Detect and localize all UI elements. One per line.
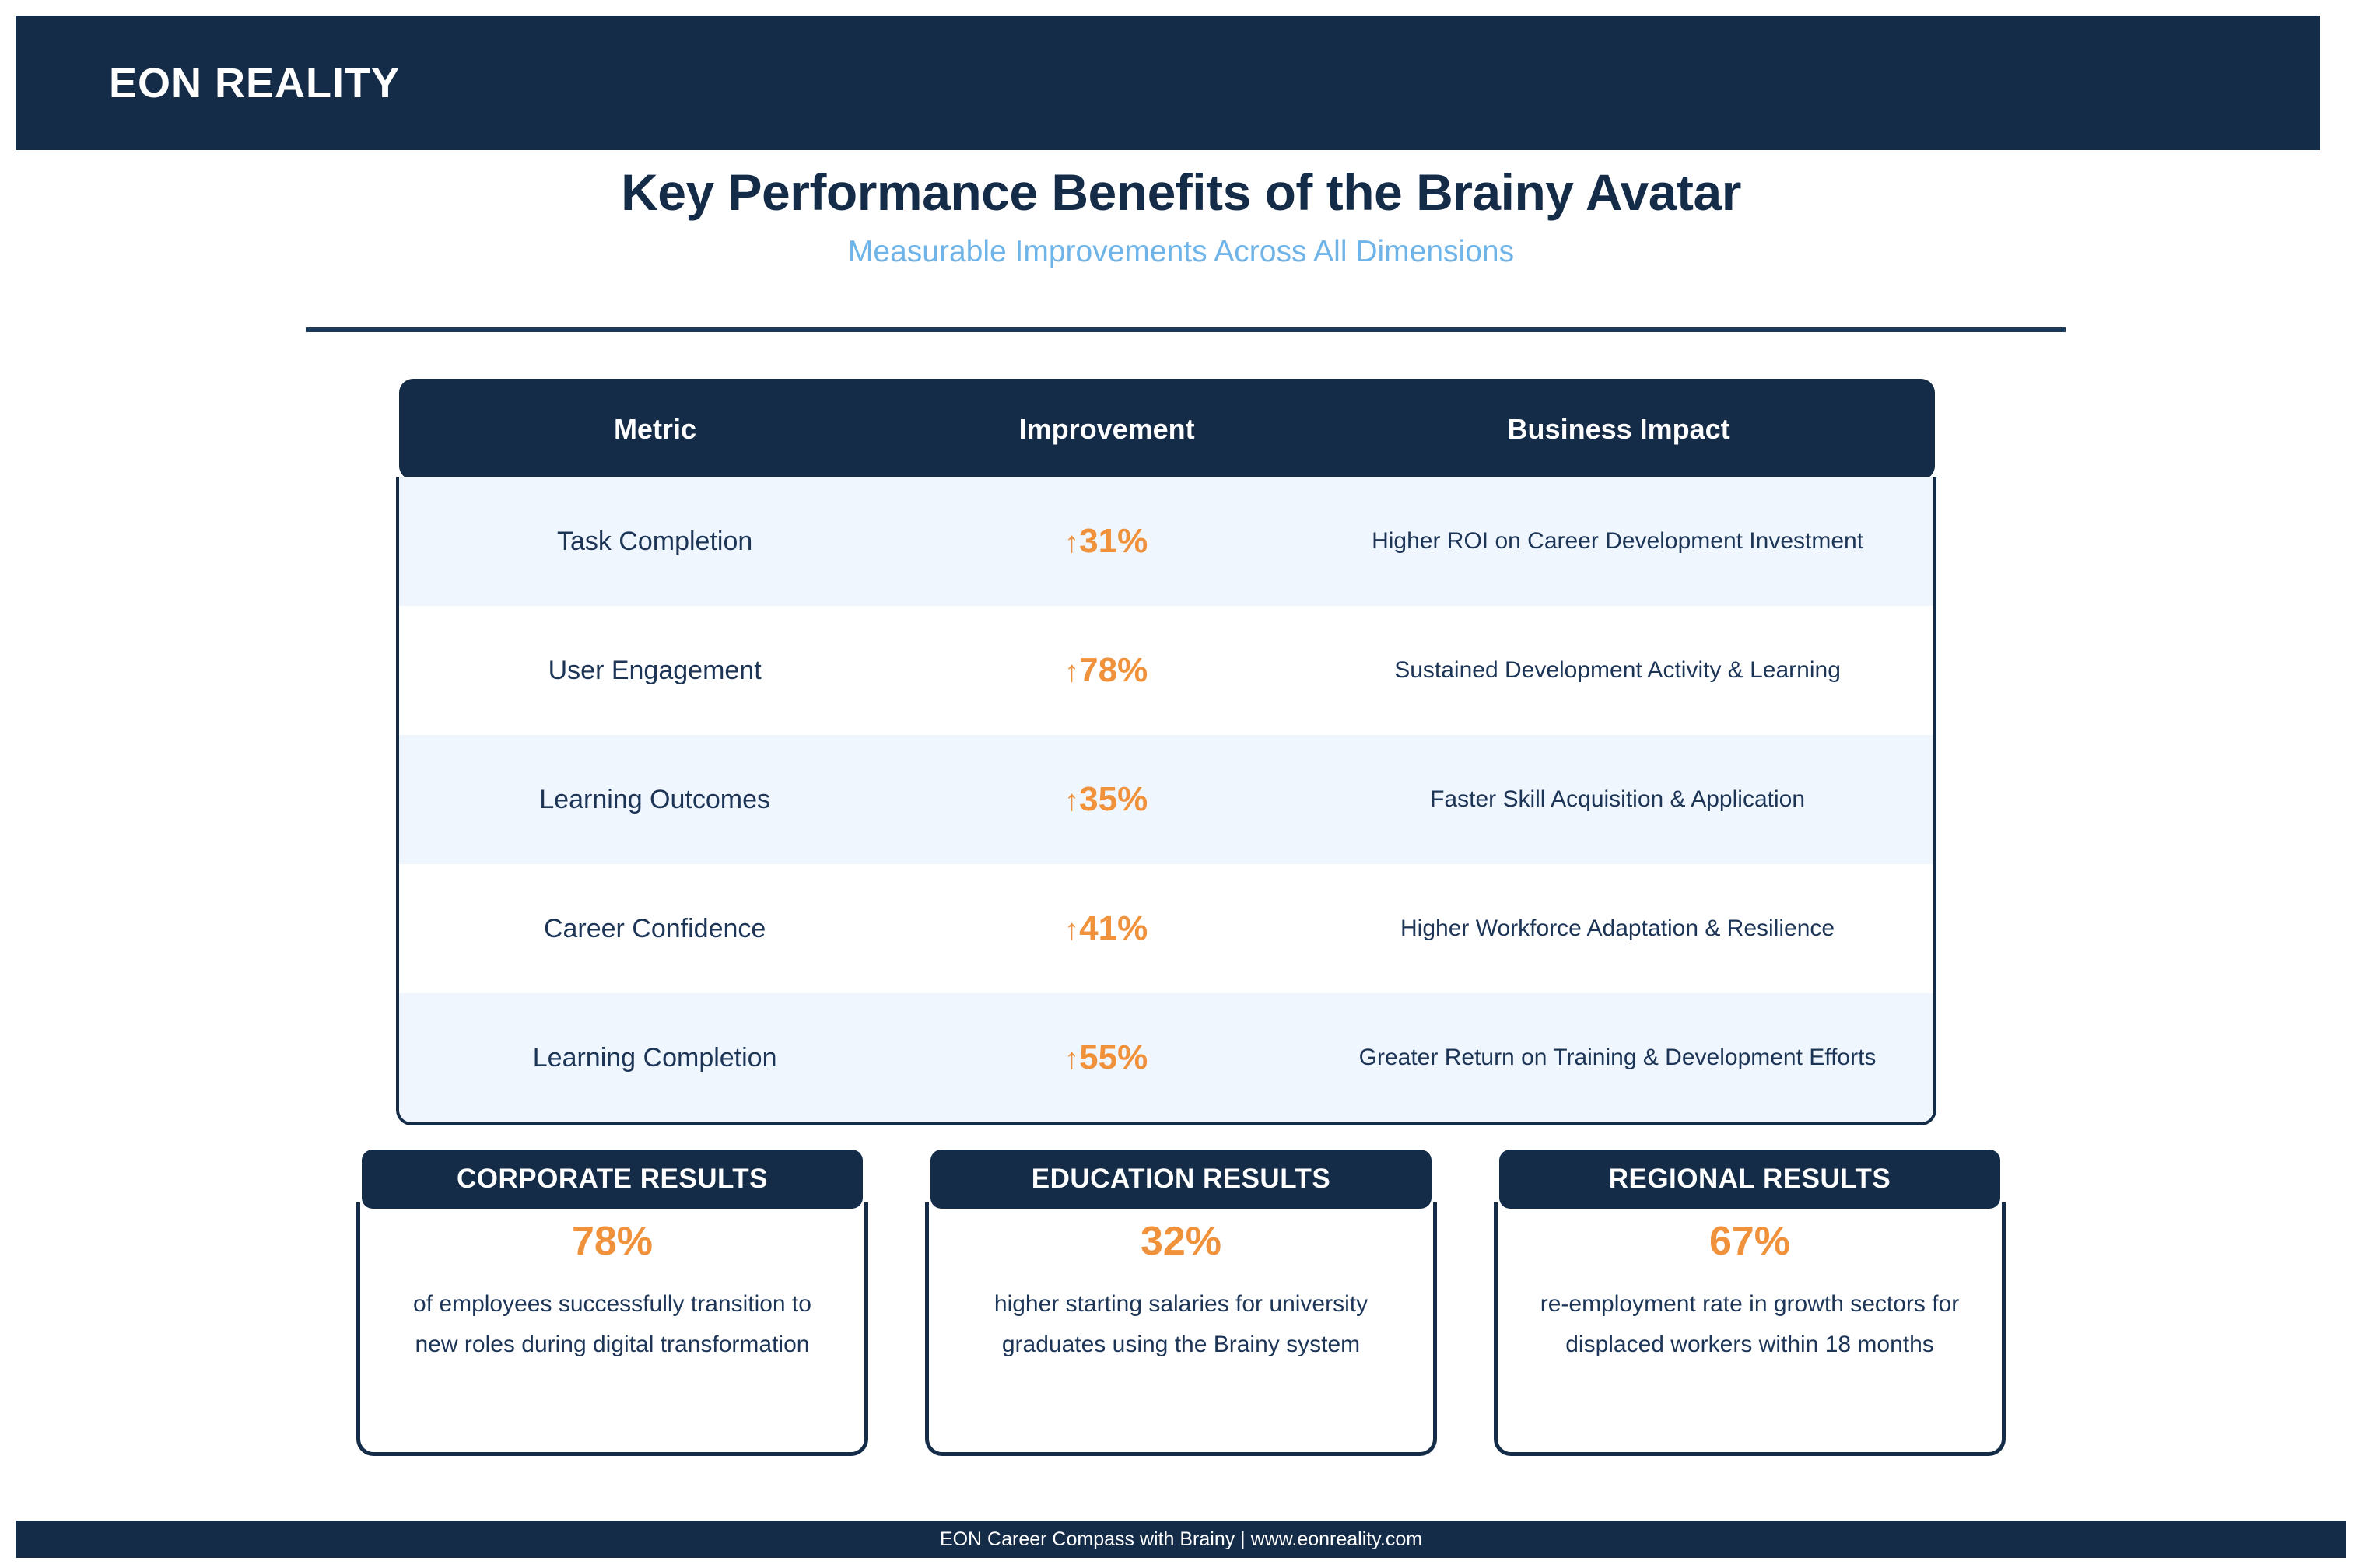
cell-improvement: ↑78%	[910, 651, 1302, 690]
card-regional-results: REGIONAL RESULTS 67% re-employment rate …	[1499, 1150, 2000, 1461]
cell-impact: Faster Skill Acquisition & Application	[1302, 786, 1933, 813]
cell-improvement-value: 35%	[1079, 780, 1148, 818]
card-title: REGIONAL RESULTS	[1609, 1164, 1891, 1195]
table-row: Career Confidence ↑41% Higher Workforce …	[399, 864, 1933, 993]
cell-improvement-value: 31%	[1079, 522, 1148, 560]
cell-metric: Career Confidence	[399, 914, 910, 944]
column-header-metric: Metric	[399, 413, 911, 446]
cell-impact: Greater Return on Training & Development…	[1302, 1045, 1933, 1071]
table-header-row: Metric Improvement Business Impact	[399, 379, 1935, 480]
footer-text: EON Career Compass with Brainy | www.eon…	[940, 1528, 1422, 1551]
brand-name: EON REALITY	[109, 59, 400, 107]
card-title: EDUCATION RESULTS	[1032, 1164, 1330, 1195]
card-body: 32% higher starting salaries for univers…	[925, 1202, 1437, 1456]
card-header: EDUCATION RESULTS	[930, 1150, 1432, 1209]
cell-improvement: ↑31%	[910, 522, 1302, 561]
card-value: 67%	[1498, 1220, 2002, 1264]
card-value: 32%	[929, 1220, 1433, 1264]
card-title: CORPORATE RESULTS	[457, 1164, 768, 1195]
arrow-up-icon: ↑	[1064, 914, 1079, 947]
cell-impact: Higher ROI on Career Development Investm…	[1302, 528, 1933, 555]
table-row: Task Completion ↑31% Higher ROI on Caree…	[399, 477, 1933, 606]
table-row: Learning Completion ↑55% Greater Return …	[399, 993, 1933, 1122]
cell-impact: Sustained Development Activity & Learnin…	[1302, 657, 1933, 684]
footer-bar: EON Career Compass with Brainy | www.eon…	[16, 1521, 2346, 1558]
cell-improvement: ↑41%	[910, 909, 1302, 948]
table-body: Task Completion ↑31% Higher ROI on Caree…	[396, 477, 1936, 1125]
cell-metric: User Engagement	[399, 656, 910, 686]
card-description: re-employment rate in growth sectors for…	[1498, 1284, 2002, 1364]
card-description: higher starting salaries for university …	[929, 1284, 1433, 1364]
arrow-up-icon: ↑	[1064, 785, 1079, 817]
cell-improvement-value: 55%	[1079, 1038, 1148, 1076]
cell-impact: Higher Workforce Adaptation & Resilience	[1302, 915, 1933, 942]
title-block: Key Performance Benefits of the Brainy A…	[0, 150, 2362, 269]
arrow-up-icon: ↑	[1064, 1043, 1079, 1076]
metrics-table: Metric Improvement Business Impact Task …	[399, 379, 1935, 480]
table-row: Learning Outcomes ↑35% Faster Skill Acqu…	[399, 735, 1933, 864]
column-header-improvement: Improvement	[911, 413, 1302, 446]
cell-metric: Learning Outcomes	[399, 785, 910, 815]
cell-improvement-value: 78%	[1079, 651, 1148, 689]
arrow-up-icon: ↑	[1064, 656, 1079, 688]
cell-improvement: ↑55%	[910, 1038, 1302, 1077]
card-body: 78% of employees successfully transition…	[356, 1202, 868, 1456]
column-header-impact: Business Impact	[1302, 413, 1935, 446]
card-header: CORPORATE RESULTS	[362, 1150, 863, 1209]
cell-metric: Learning Completion	[399, 1043, 910, 1073]
brand-header-bar: EON REALITY	[16, 16, 2320, 150]
card-description: of employees successfully transition to …	[360, 1284, 864, 1364]
card-education-results: EDUCATION RESULTS 32% higher starting sa…	[930, 1150, 1432, 1461]
page-title: Key Performance Benefits of the Brainy A…	[0, 164, 2362, 222]
card-value: 78%	[360, 1220, 864, 1264]
page-subtitle: Measurable Improvements Across All Dimen…	[0, 236, 2362, 269]
card-corporate-results: CORPORATE RESULTS 78% of employees succe…	[362, 1150, 863, 1461]
card-header: REGIONAL RESULTS	[1499, 1150, 2000, 1209]
cell-improvement-value: 41%	[1079, 909, 1148, 947]
results-card-group: CORPORATE RESULTS 78% of employees succe…	[362, 1150, 2000, 1461]
header-divider	[306, 327, 2066, 332]
cell-metric: Task Completion	[399, 527, 910, 557]
table-row: User Engagement ↑78% Sustained Developme…	[399, 606, 1933, 735]
cell-improvement: ↑35%	[910, 780, 1302, 819]
card-body: 67% re-employment rate in growth sectors…	[1494, 1202, 2006, 1456]
arrow-up-icon: ↑	[1064, 527, 1079, 559]
